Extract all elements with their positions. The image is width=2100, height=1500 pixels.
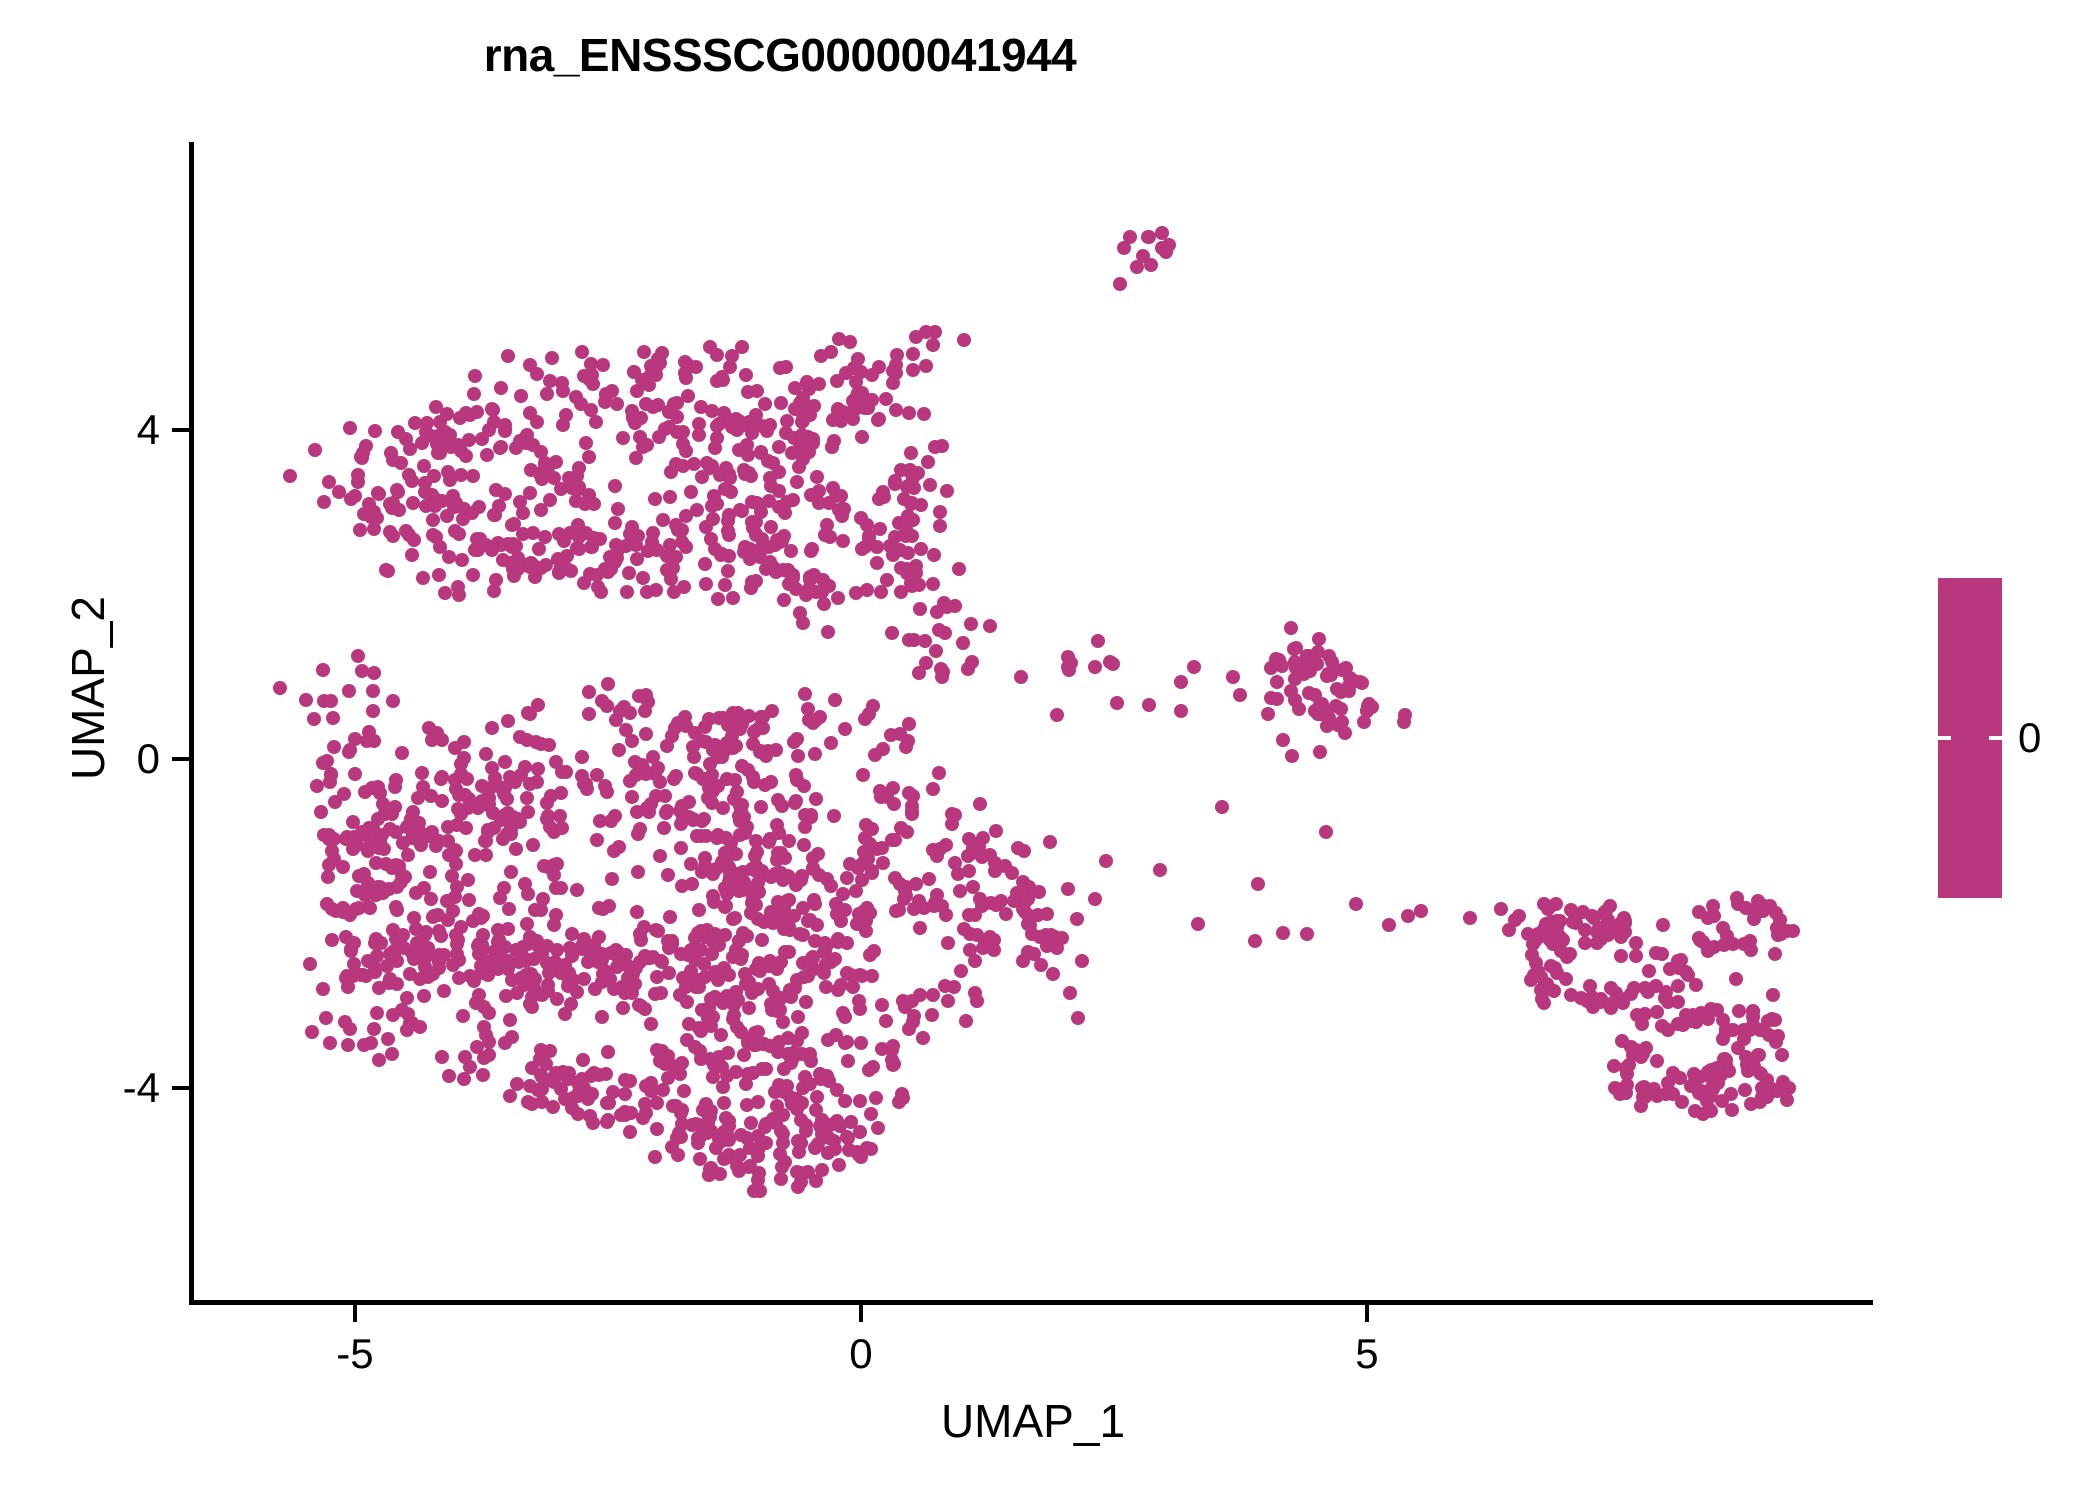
scatter-point: [824, 345, 838, 359]
scatter-point: [1578, 923, 1592, 937]
scatter-point: [325, 844, 339, 858]
scatter-point: [1666, 1087, 1680, 1101]
scatter-point: [1401, 909, 1415, 923]
scatter-point: [1070, 912, 1084, 926]
scatter-point: [872, 360, 886, 374]
scatter-point: [350, 884, 364, 898]
scatter-point: [947, 980, 961, 994]
scatter-point: [1775, 1048, 1789, 1062]
scatter-point: [454, 444, 468, 458]
scatter-point: [610, 397, 624, 411]
scatter-point: [605, 872, 619, 886]
scatter-point: [791, 749, 805, 763]
scatter-point: [466, 568, 480, 582]
scatter-point: [679, 509, 693, 523]
scatter-point: [1771, 928, 1785, 942]
scatter-point: [717, 1096, 731, 1110]
scatter-point: [785, 446, 799, 460]
scatter-point: [787, 735, 801, 749]
scatter-point: [902, 633, 916, 647]
scatter-point: [384, 446, 398, 460]
scatter-point: [1110, 696, 1124, 710]
scatter-point: [1650, 1005, 1664, 1019]
scatter-point: [1322, 649, 1336, 663]
scatter-point: [801, 914, 815, 928]
scatter-point: [467, 387, 481, 401]
scatter-point: [723, 360, 737, 374]
scatter-point: [804, 1054, 818, 1068]
scatter-point: [650, 1043, 664, 1057]
scatter-point: [416, 571, 430, 585]
scatter-point: [442, 1069, 456, 1083]
scatter-point: [521, 887, 535, 901]
scatter-point: [322, 475, 336, 489]
scatter-point: [401, 1007, 415, 1021]
scatter-point: [691, 1136, 705, 1150]
scatter-point: [830, 1083, 844, 1097]
scatter-point: [930, 849, 944, 863]
scatter-point: [782, 945, 796, 959]
y-tick-mark: [172, 428, 189, 432]
scatter-point: [482, 423, 496, 437]
scatter-point: [902, 406, 916, 420]
scatter-point: [342, 745, 356, 759]
scatter-point: [855, 430, 869, 444]
scatter-point: [1308, 704, 1322, 718]
scatter-point: [797, 779, 811, 793]
scatter-point: [744, 581, 758, 595]
scatter-point: [435, 1050, 449, 1064]
scatter-point: [324, 694, 338, 708]
scatter-point: [305, 1025, 319, 1039]
scatter-point: [462, 893, 476, 907]
scatter-point: [372, 841, 386, 855]
scatter-point: [854, 1036, 868, 1050]
scatter-point: [357, 1038, 371, 1052]
scatter-point: [273, 681, 287, 695]
scatter-point: [608, 555, 622, 569]
scatter-point: [532, 542, 546, 556]
scatter-point: [556, 384, 570, 398]
scatter-point: [661, 868, 675, 882]
scatter-point: [434, 772, 448, 786]
scatter-point: [452, 953, 466, 967]
scatter-point: [368, 424, 382, 438]
scatter-point: [716, 373, 730, 387]
scatter-point: [479, 834, 493, 848]
scatter-point: [830, 374, 844, 388]
scatter-point: [628, 416, 642, 430]
scatter-point: [580, 782, 594, 796]
scatter-point: [520, 733, 534, 747]
scatter-point: [400, 991, 414, 1005]
scatter-point: [803, 1077, 817, 1091]
scatter-point: [1738, 1083, 1752, 1097]
scatter-point: [534, 561, 548, 575]
scatter-point: [1130, 260, 1144, 274]
scatter-point: [509, 842, 523, 856]
scatter-point: [916, 1031, 930, 1045]
scatter-point: [764, 520, 778, 534]
scatter-point: [902, 717, 916, 731]
x-tick-label: -5: [336, 1330, 373, 1378]
scatter-point: [540, 387, 554, 401]
scatter-point: [685, 877, 699, 891]
scatter-point: [648, 492, 662, 506]
scatter-point: [876, 485, 890, 499]
scatter-point: [824, 736, 838, 750]
scatter-point: [898, 883, 912, 897]
scatter-point: [776, 1015, 790, 1029]
scatter-point: [547, 918, 561, 932]
scatter-point: [552, 566, 566, 580]
scatter-point: [951, 867, 965, 881]
scatter-point: [608, 479, 622, 493]
scatter-point: [1088, 892, 1102, 906]
scatter-point: [646, 526, 660, 540]
scatter-point: [327, 740, 341, 754]
scatter-point: [889, 358, 903, 372]
scatter-point: [574, 397, 588, 411]
scatter-point: [968, 954, 982, 968]
scatter-point: [1313, 745, 1327, 759]
scatter-point: [543, 374, 557, 388]
scatter-point: [758, 397, 772, 411]
scatter-point: [386, 529, 400, 543]
scatter-point: [984, 896, 998, 910]
scatter-point: [1011, 841, 1025, 855]
scatter-point: [460, 772, 474, 786]
scatter-point: [437, 984, 451, 998]
scatter-point: [776, 1136, 790, 1150]
scatter-point: [1187, 660, 1201, 674]
scatter-point: [570, 985, 584, 999]
scatter-point: [933, 519, 947, 533]
scatter-point: [530, 415, 544, 429]
scatter-point: [711, 592, 725, 606]
scatter-point: [1559, 972, 1573, 986]
scatter-point: [828, 693, 842, 707]
scatter-point: [667, 585, 681, 599]
scatter-point: [303, 957, 317, 971]
scatter-point: [684, 485, 698, 499]
scatter-point: [733, 879, 747, 893]
scatter-point: [577, 576, 591, 590]
scatter-point: [718, 928, 732, 942]
scatter-point: [914, 542, 928, 556]
scatter-point: [456, 1009, 470, 1023]
scatter-point: [749, 1038, 763, 1052]
scatter-point: [896, 1091, 910, 1105]
scatter-point: [493, 949, 507, 963]
scatter-point: [791, 1180, 805, 1194]
scatter-point: [821, 1146, 835, 1160]
scatter-point: [1141, 230, 1155, 244]
scatter-point: [663, 910, 677, 924]
scatter-point: [467, 974, 481, 988]
scatter-point: [941, 936, 955, 950]
scatter-point: [572, 542, 586, 556]
scatter-point: [543, 493, 557, 507]
scatter-point: [500, 792, 514, 806]
scatter-point: [659, 806, 673, 820]
scatter-point: [1649, 946, 1663, 960]
scatter-point: [820, 938, 834, 952]
scatter-point: [479, 747, 493, 761]
x-axis-title: UMAP_1: [193, 1394, 1873, 1448]
scatter-point: [518, 760, 532, 774]
scatter-point: [1144, 258, 1158, 272]
scatter-point: [416, 780, 430, 794]
scatter-point: [321, 870, 335, 884]
scatter-point: [346, 842, 360, 856]
scatter-point: [796, 414, 810, 428]
scatter-point: [452, 527, 466, 541]
scatter-point: [550, 992, 564, 1006]
x-tick-mark: [859, 1305, 863, 1322]
x-tick-label: 5: [1355, 1330, 1378, 1378]
scatter-point: [650, 1122, 664, 1136]
scatter-point: [1716, 1032, 1730, 1046]
scatter-point: [964, 617, 978, 631]
scatter-point: [652, 430, 666, 444]
scatter-point: [1153, 863, 1167, 877]
scatter-point: [720, 1069, 734, 1083]
scatter-point: [970, 928, 984, 942]
scatter-point: [661, 1071, 675, 1085]
scatter-point: [623, 706, 637, 720]
scatter-point: [876, 742, 890, 756]
scatter-point: [917, 407, 931, 421]
scatter-point: [480, 448, 494, 462]
scatter-point: [1320, 719, 1334, 733]
scatter-point: [639, 727, 653, 741]
scatter-point: [380, 959, 394, 973]
scatter-point: [1674, 953, 1688, 967]
scatter-point: [719, 1151, 733, 1165]
scatter-point: [1614, 949, 1628, 963]
scatter-point: [840, 1130, 854, 1144]
scatter-point: [432, 955, 446, 969]
scatter-point: [598, 973, 612, 987]
scatter-point: [1361, 699, 1375, 713]
scatter-point: [1142, 698, 1156, 712]
scatter-point: [789, 794, 803, 808]
scatter-point: [1251, 877, 1265, 891]
scatter-point: [1547, 984, 1561, 998]
scatter-point: [780, 414, 794, 428]
scatter-point: [1701, 1012, 1715, 1026]
scatter-point: [352, 869, 366, 883]
scatter-point: [859, 914, 873, 928]
scatter-point: [1756, 904, 1770, 918]
scatter-point: [790, 475, 804, 489]
scatter-point: [693, 1152, 707, 1166]
scatter-point: [1753, 1023, 1767, 1037]
scatter-point: [407, 533, 421, 547]
scatter-point: [371, 880, 385, 894]
scatter-point: [704, 992, 718, 1006]
scatter-point: [653, 849, 667, 863]
scatter-point: [932, 623, 946, 637]
scatter-point: [714, 1028, 728, 1042]
scatter-point: [394, 875, 408, 889]
scatter-point: [663, 490, 677, 504]
scatter-point: [406, 496, 420, 510]
scatter-point: [900, 480, 914, 494]
scatter-point: [721, 718, 735, 732]
scatter-point: [913, 602, 927, 616]
scatter-point: [498, 1036, 512, 1050]
y-tick-label: 0: [137, 735, 160, 783]
scatter-point: [835, 509, 849, 523]
scatter-point: [862, 1063, 876, 1077]
scatter-point: [640, 585, 654, 599]
scatter-point: [1071, 1011, 1085, 1025]
scatter-point: [595, 1010, 609, 1024]
scatter-point: [474, 911, 488, 925]
scatter-point: [1248, 934, 1262, 948]
scatter-point: [763, 418, 777, 432]
scatter-point: [1269, 652, 1283, 666]
scatter-point: [418, 476, 432, 490]
scatter-point: [424, 892, 438, 906]
scatter-point: [811, 847, 825, 861]
scatter-point: [798, 687, 812, 701]
scatter-point: [338, 1015, 352, 1029]
scatter-point: [367, 522, 381, 536]
scatter-point: [901, 734, 915, 748]
scatter-point: [592, 930, 606, 944]
scatter-point: [461, 801, 475, 815]
scatter-point: [780, 1079, 794, 1093]
scatter-point: [706, 743, 720, 757]
scatter-point: [326, 711, 340, 725]
scatter-point: [940, 484, 954, 498]
scatter-point: [601, 677, 615, 691]
scatter-point: [564, 997, 578, 1011]
scatter-point: [912, 666, 926, 680]
scatter-point: [1335, 715, 1349, 729]
scatter-point: [887, 797, 901, 811]
scatter-point: [941, 994, 955, 1008]
scatter-point: [854, 1150, 868, 1164]
scatter-point: [590, 945, 604, 959]
scatter-point: [852, 994, 866, 1008]
scatter-point: [511, 812, 525, 826]
scatter-point: [699, 577, 713, 591]
scatter-point: [590, 568, 604, 582]
scatter-point: [904, 497, 918, 511]
scatter-point: [367, 1022, 381, 1036]
scatter-point: [372, 981, 386, 995]
scatter-point: [531, 762, 545, 776]
scatter-point: [1007, 894, 1021, 908]
scatter-point: [841, 1054, 855, 1068]
scatter-point: [935, 899, 949, 913]
y-tick-mark: [172, 1086, 189, 1090]
scatter-point: [569, 494, 583, 508]
scatter-point: [534, 445, 548, 459]
scatter-point: [742, 709, 756, 723]
scatter-point: [861, 401, 875, 415]
scatter-point: [840, 936, 854, 950]
scatter-point: [510, 986, 524, 1000]
scatter-point: [1215, 800, 1229, 814]
scatter-point: [860, 583, 874, 597]
colorbar-tick-left: [1938, 736, 1951, 740]
scatter-point: [582, 707, 596, 721]
scatter-point: [684, 857, 698, 871]
scatter-point: [764, 997, 778, 1011]
scatter-point: [457, 502, 471, 516]
scatter-point: [616, 431, 630, 445]
scatter-point: [630, 552, 644, 566]
scatter-point: [622, 566, 636, 580]
scatter-point: [810, 1090, 824, 1104]
scatter-point: [676, 425, 690, 439]
scatter-point: [582, 685, 596, 699]
scatter-point: [503, 1089, 517, 1103]
scatter-point: [726, 591, 740, 605]
scatter-point: [1746, 1005, 1760, 1019]
scatter-point: [926, 338, 940, 352]
scatter-point: [308, 443, 322, 457]
scatter-point: [520, 791, 534, 805]
scatter-point: [702, 1168, 716, 1182]
scatter-point: [363, 901, 377, 915]
scatter-point: [929, 644, 943, 658]
scatter-point: [855, 873, 869, 887]
scatter-point: [472, 500, 486, 514]
scatter-point: [869, 1091, 883, 1105]
scatter-point: [633, 927, 647, 941]
scatter-point: [812, 377, 826, 391]
scatter-point: [821, 625, 835, 639]
scatter-point: [1349, 897, 1363, 911]
scatter-point: [740, 438, 754, 452]
scatter-point: [501, 714, 515, 728]
scatter-point: [1725, 1103, 1739, 1117]
scatter-point: [1353, 675, 1367, 689]
scatter-point: [656, 513, 670, 527]
scatter-point: [885, 626, 899, 640]
scatter-point: [777, 593, 791, 607]
scatter-point: [482, 1006, 496, 1020]
scatter-point: [935, 439, 949, 453]
scatter-point: [432, 568, 446, 582]
scatter-point: [838, 1010, 852, 1024]
scatter-point: [319, 1011, 333, 1025]
scatter-point: [639, 397, 653, 411]
scatter-point: [699, 520, 713, 534]
scatter-point: [808, 747, 822, 761]
scatter-point: [1537, 897, 1551, 911]
scatter-point: [644, 1017, 658, 1031]
scatter-point: [582, 450, 596, 464]
scatter-point: [735, 340, 749, 354]
scatter-point: [1583, 979, 1597, 993]
scatter-point: [366, 704, 380, 718]
scatter-point: [749, 834, 763, 848]
scatter-point: [817, 597, 831, 611]
colorbar-tick-right: [1989, 736, 2002, 740]
scatter-point: [1512, 909, 1526, 923]
scatter-point: [1502, 923, 1516, 937]
scatter-point: [1729, 972, 1743, 986]
scatter-point: [1061, 660, 1075, 674]
scatter-point: [754, 505, 768, 519]
